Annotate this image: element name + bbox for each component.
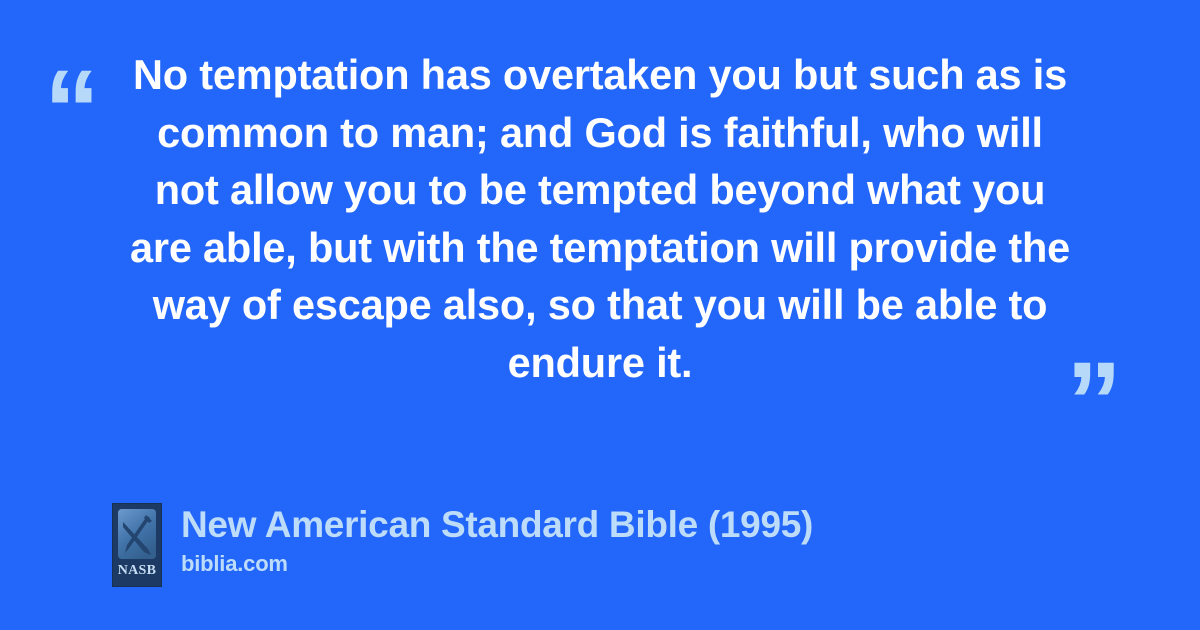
nasb-wordmark: NASB — [118, 562, 157, 580]
source-site-label[interactable]: biblia.com — [181, 549, 813, 579]
attribution-text: New American Standard Bible (1995) bibli… — [181, 503, 813, 579]
bible-version-title: New American Standard Bible (1995) — [181, 503, 813, 547]
nasb-logo: NASB — [112, 503, 162, 587]
verse-quote-card: “ No temptation has overtaken you but su… — [0, 0, 1200, 630]
nasb-sword-emblem-icon — [118, 509, 156, 559]
attribution: NASB New American Standard Bible (1995) … — [112, 503, 813, 587]
quote-text: No temptation has overtaken you but such… — [128, 46, 1072, 391]
close-quote-mark-icon: ” — [1066, 346, 1120, 458]
quote-block: “ No temptation has overtaken you but su… — [0, 46, 1200, 436]
open-quote-mark-icon: “ — [44, 54, 98, 166]
